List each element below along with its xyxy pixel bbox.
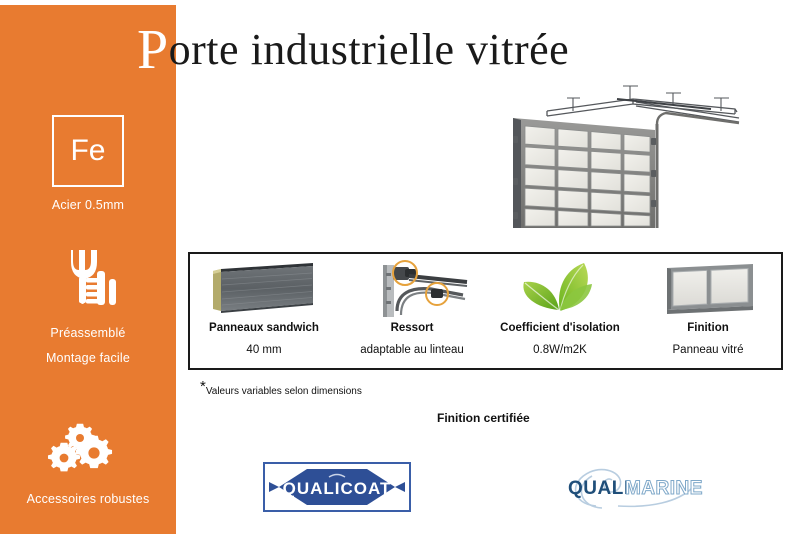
sidebar-item-label-preassemble: Préassemblé	[0, 323, 176, 343]
sectional-glazed-industrial-door-illustration	[505, 78, 755, 228]
feature-ressort: Ressort adaptable au linteau	[338, 254, 486, 372]
feature-title: Ressort	[391, 322, 434, 334]
wrench-assembly-icon	[53, 248, 123, 316]
footnote-text: Valeurs variables selon dimensions	[206, 386, 362, 397]
fe-element-square-icon: Fe	[52, 115, 124, 187]
feature-value: 0.8W/m2K	[533, 344, 587, 356]
green-leaf-icon	[490, 258, 630, 320]
certification-heading: Finition certifiée	[437, 411, 530, 425]
sidebar-item-label-acier: Acier 0.5mm	[0, 195, 176, 215]
footnote: *Valeurs variables selon dimensions	[200, 378, 362, 397]
glazed-panel-icon	[638, 258, 778, 320]
fe-symbol: Fe	[54, 117, 122, 185]
qualimarine-wordmark-primary: QUALI	[568, 478, 630, 499]
feature-coefficient-isolation: Coefficient d'isolation 0.8W/m2K	[486, 254, 634, 372]
feature-finition: Finition Panneau vitré	[634, 254, 782, 372]
gears-icon	[46, 423, 130, 487]
qualimarine-wordmark-secondary: MARINE	[625, 478, 703, 499]
qualimarine-logo: QUALI MARINE	[558, 462, 718, 512]
feature-title: Finition	[687, 322, 729, 334]
poster-page: Fe Acier 0.5mm	[0, 0, 800, 534]
features-panel: Panneaux sandwich 40 mm	[188, 252, 783, 370]
sidebar-item-label-montage: Montage facile	[0, 348, 176, 368]
qualicoat-logo: QUALICOAT	[263, 462, 411, 512]
feature-title: Panneaux sandwich	[209, 322, 319, 334]
feature-value: Panneau vitré	[673, 344, 744, 356]
sidebar: Fe Acier 0.5mm	[0, 5, 176, 534]
page-title-initial: P	[137, 19, 169, 81]
spring-mechanism-icon	[342, 258, 482, 320]
qualicoat-wordmark: QUALICOAT	[283, 479, 392, 498]
feature-title: Coefficient d'isolation	[500, 322, 620, 334]
feature-value: 40 mm	[246, 344, 281, 356]
page-title: Porte industrielle vitrée	[137, 24, 569, 76]
feature-panneaux-sandwich: Panneaux sandwich 40 mm	[190, 254, 338, 372]
feature-value: adaptable au linteau	[360, 344, 464, 356]
page-title-rest: orte industrielle vitrée	[169, 25, 570, 74]
sandwich-panel-icon	[194, 258, 334, 320]
sidebar-item-label-accessoires: Accessoires robustes	[0, 489, 176, 509]
